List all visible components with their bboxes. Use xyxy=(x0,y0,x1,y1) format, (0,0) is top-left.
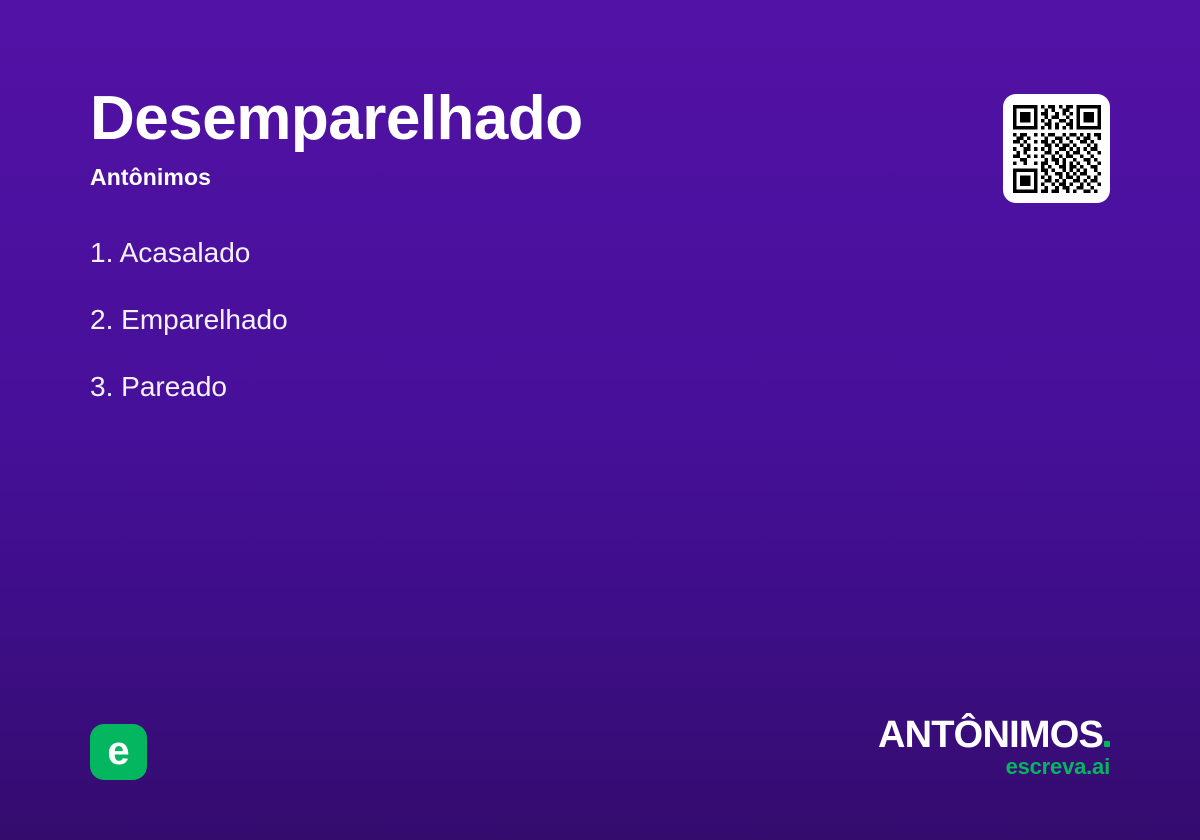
category-label: Antônimos xyxy=(90,164,950,192)
antonym-card: Desemparelhado Antônimos 1. Acasalado 2.… xyxy=(0,0,1200,840)
list-item: 3. Pareado xyxy=(90,372,890,403)
brand-wordmark: ANTÔNIMOS escreva.ai xyxy=(878,716,1110,778)
list-item: 2. Emparelhado xyxy=(90,305,890,336)
brand-mark-letter: e xyxy=(107,731,129,771)
brand-wordmark-main: ANTÔNIMOS xyxy=(878,716,1103,754)
list-item-label: Emparelhado xyxy=(121,304,288,335)
list-item-label: Acasalado xyxy=(120,237,251,268)
brand-dot-icon xyxy=(1104,741,1110,747)
escreva-logo-icon[interactable]: e xyxy=(90,724,147,780)
list-item-index: 3. xyxy=(90,371,113,402)
brand-wordmark-main-row: ANTÔNIMOS xyxy=(878,716,1110,754)
list-item-label: Pareado xyxy=(121,371,227,402)
brand-wordmark-sub: escreva.ai xyxy=(878,756,1110,778)
qr-code-card[interactable] xyxy=(1003,94,1110,203)
page-title: Desemparelhado xyxy=(90,86,950,152)
list-item-index: 1. xyxy=(90,237,113,268)
qr-code-icon xyxy=(1013,105,1101,193)
list-item: 1. Acasalado xyxy=(90,238,890,269)
card-header: Desemparelhado Antônimos xyxy=(90,86,950,191)
antonym-list: 1. Acasalado 2. Emparelhado 3. Pareado xyxy=(90,238,890,438)
list-item-index: 2. xyxy=(90,304,113,335)
